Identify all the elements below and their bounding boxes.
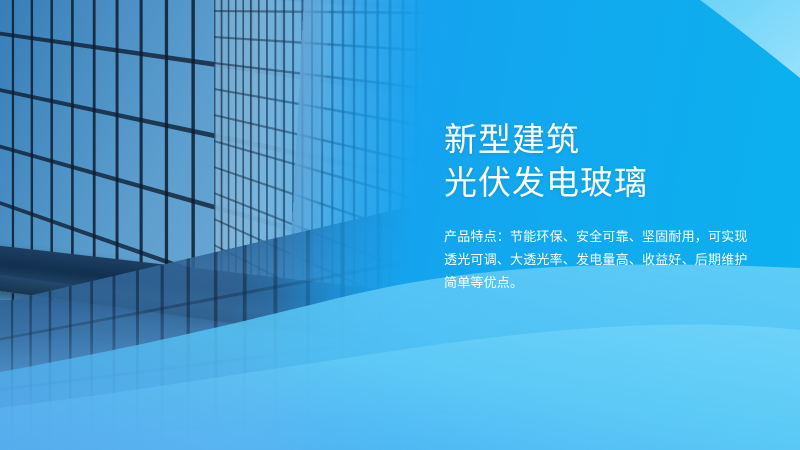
headline-line-1: 新型建筑 bbox=[444, 118, 764, 161]
promo-banner: 新型建筑 光伏发电玻璃 产品特点：节能环保、安全可靠、坚固耐用，可实现透光可调、… bbox=[0, 0, 800, 450]
headline-line-2: 光伏发电玻璃 bbox=[444, 161, 764, 204]
building-photo bbox=[0, 0, 460, 450]
page-title: 新型建筑 光伏发电玻璃 bbox=[444, 118, 764, 204]
banner-text-block: 新型建筑 光伏发电玻璃 产品特点：节能环保、安全可靠、坚固耐用，可实现透光可调、… bbox=[444, 118, 764, 294]
photo-bottom-fade bbox=[0, 330, 460, 450]
building-photo-mask bbox=[0, 0, 460, 450]
product-features-text: 产品特点：节能环保、安全可靠、坚固耐用，可实现透光可调、大透光率、发电量高、收益… bbox=[444, 225, 754, 294]
wave-corner bbox=[700, 0, 800, 78]
